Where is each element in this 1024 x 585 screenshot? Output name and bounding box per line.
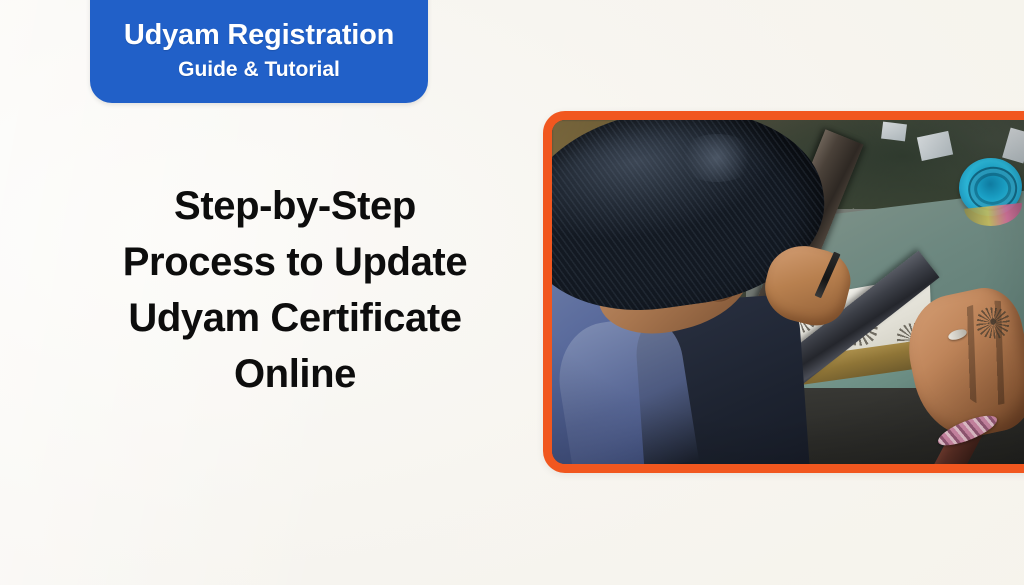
headline-line-3: Udyam Certificate [60, 290, 530, 346]
brand-badge: Udyam Registration Guide & Tutorial [90, 0, 428, 103]
banner-canvas: Udyam Registration Guide & Tutorial Step… [0, 0, 1024, 585]
headline-line-4: Online [60, 346, 530, 402]
page-title: Step-by-Step Process to Update Udyam Cer… [60, 178, 530, 402]
headline-line-2: Process to Update [60, 234, 530, 290]
photo-frame [543, 111, 1024, 473]
paper-tag [882, 122, 908, 142]
badge-title: Udyam Registration [124, 19, 394, 51]
headline-line-1: Step-by-Step [60, 178, 530, 234]
artisan-photo [552, 120, 1024, 464]
hair-crown-swirl [678, 134, 756, 182]
badge-subtitle: Guide & Tutorial [178, 57, 340, 82]
